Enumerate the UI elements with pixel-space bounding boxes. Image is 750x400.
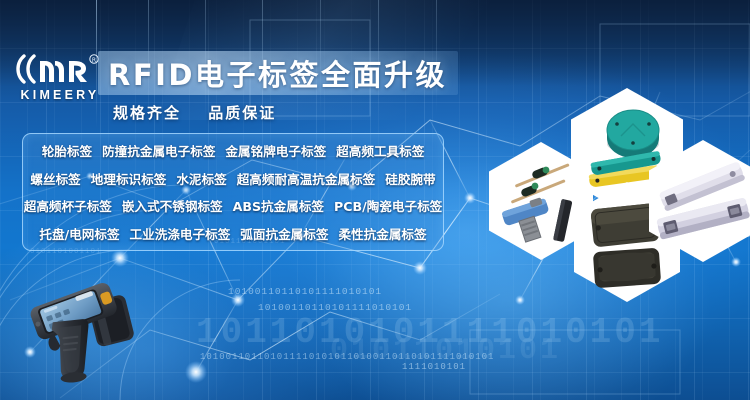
handheld-reader-illustration xyxy=(28,276,156,384)
tag-row: 轮胎标签 防撞抗金属电子标签 金属铭牌电子标签 超高频工具标签 xyxy=(23,141,443,160)
tag-row: 超高频杯子标签 嵌入式不锈钢标签 ABS抗金属标签 PCB/陶瓷电子标签 xyxy=(23,196,443,215)
subtitle-item-2: 品质保证 xyxy=(208,104,276,122)
tag-item[interactable]: 螺丝标签 xyxy=(30,169,80,188)
tag-item[interactable]: 弧面抗金属标签 xyxy=(240,224,328,243)
tag-item[interactable]: 托盘/电网标签 xyxy=(39,224,119,243)
brand-name: KIMEERY xyxy=(14,88,106,102)
tag-item[interactable]: 水泥标签 xyxy=(176,169,226,188)
tag-item[interactable]: 嵌入式不锈钢标签 xyxy=(122,196,223,215)
tag-item[interactable]: 防撞抗金属电子标签 xyxy=(102,141,215,160)
tag-item[interactable]: 超高频杯子标签 xyxy=(24,196,112,215)
subtitle-item-1: 规格齐全 xyxy=(113,104,181,122)
tag-item[interactable]: PCB/陶瓷电子标签 xyxy=(334,196,442,215)
page-title: RFID电子标签全面升级 xyxy=(108,52,458,94)
tag-item[interactable]: 工业洗涤电子标签 xyxy=(130,224,231,243)
tag-row: 托盘/电网标签 工业洗涤电子标签 弧面抗金属标签 柔性抗金属标签 xyxy=(23,224,443,243)
tag-item[interactable]: 地理标识标签 xyxy=(91,169,167,188)
product-tag-list-panel: 轮胎标签 防撞抗金属电子标签 金属铭牌电子标签 超高频工具标签 螺丝标签 地理标… xyxy=(22,133,444,251)
tag-item[interactable]: 轮胎标签 xyxy=(42,141,92,160)
brand-logo: R KIMEERY xyxy=(14,52,106,110)
tag-item[interactable]: 金属铭牌电子标签 xyxy=(225,141,326,160)
white-anti-metal-tag-products xyxy=(649,140,750,262)
tag-row: 螺丝标签 地理标识标签 水泥标签 超高频耐高温抗金属标签 硅胶腕带 xyxy=(23,169,443,188)
hex-white-tags[interactable] xyxy=(649,140,750,262)
tag-item[interactable]: 柔性抗金属标签 xyxy=(338,224,426,243)
rfid-promo-banner: 101001101101011110101 101001101101011110… xyxy=(0,0,750,400)
tag-item[interactable]: 超高频工具标签 xyxy=(336,141,424,160)
handheld-rfid-reader[interactable] xyxy=(28,276,156,384)
tag-item[interactable]: 硅胶腕带 xyxy=(385,169,435,188)
tag-item[interactable]: ABS抗金属标签 xyxy=(233,196,324,215)
svg-text:R: R xyxy=(92,57,96,64)
subtitle: 规格齐全 品质保证 xyxy=(113,102,296,123)
tag-item[interactable]: 超高频耐高温抗金属标签 xyxy=(237,169,376,188)
kimeery-logo-icon: R xyxy=(14,52,106,86)
